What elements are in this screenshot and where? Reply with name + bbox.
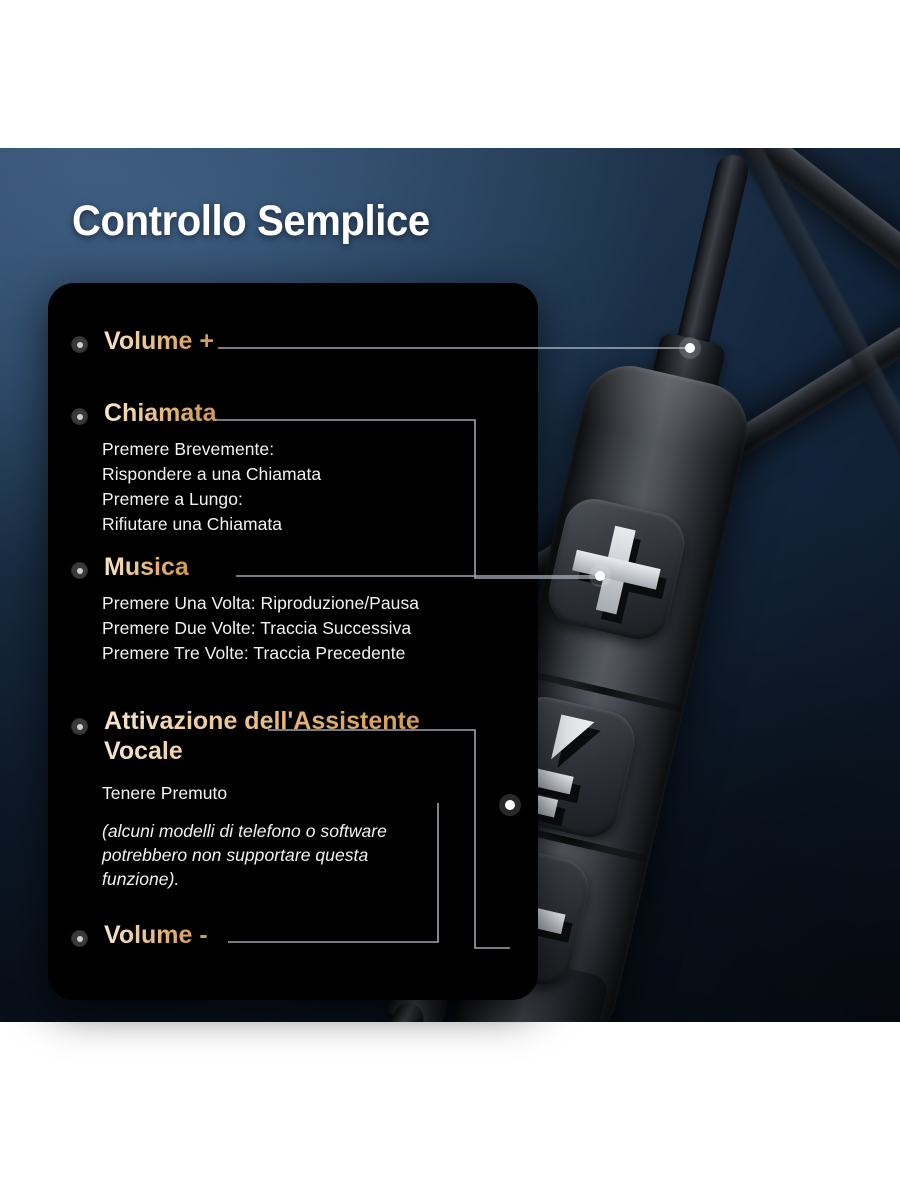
bullet-icon xyxy=(72,337,87,352)
feature-detail: Premere Brevemente: Rispondere a una Chi… xyxy=(102,437,321,536)
feature-note: (alcuni modelli di telefono o software p… xyxy=(102,819,442,891)
feature-list: Volume + Chiamata Premere Brevemente: Ri… xyxy=(48,283,538,1000)
feature-label: Volume + xyxy=(104,327,214,357)
feature-label: Chiamata xyxy=(104,399,217,429)
feature-detail: Premere Una Volta: Riproduzione/Pausa Pr… xyxy=(102,591,419,666)
bullet-icon xyxy=(72,563,87,578)
bullet-icon xyxy=(72,719,87,734)
feature-label: Musica xyxy=(104,553,189,583)
feature-label: Attivazione dell'Assistente Vocale xyxy=(104,707,434,766)
bullet-icon xyxy=(72,931,87,946)
bullet-icon xyxy=(72,409,87,424)
infographic-canvas: Controllo Semplice Volume + Chiamata Pre… xyxy=(0,0,900,1200)
page-title: Controllo Semplice xyxy=(72,197,430,246)
feature-label: Volume - xyxy=(104,921,208,951)
feature-detail: Tenere Premuto xyxy=(102,781,227,806)
